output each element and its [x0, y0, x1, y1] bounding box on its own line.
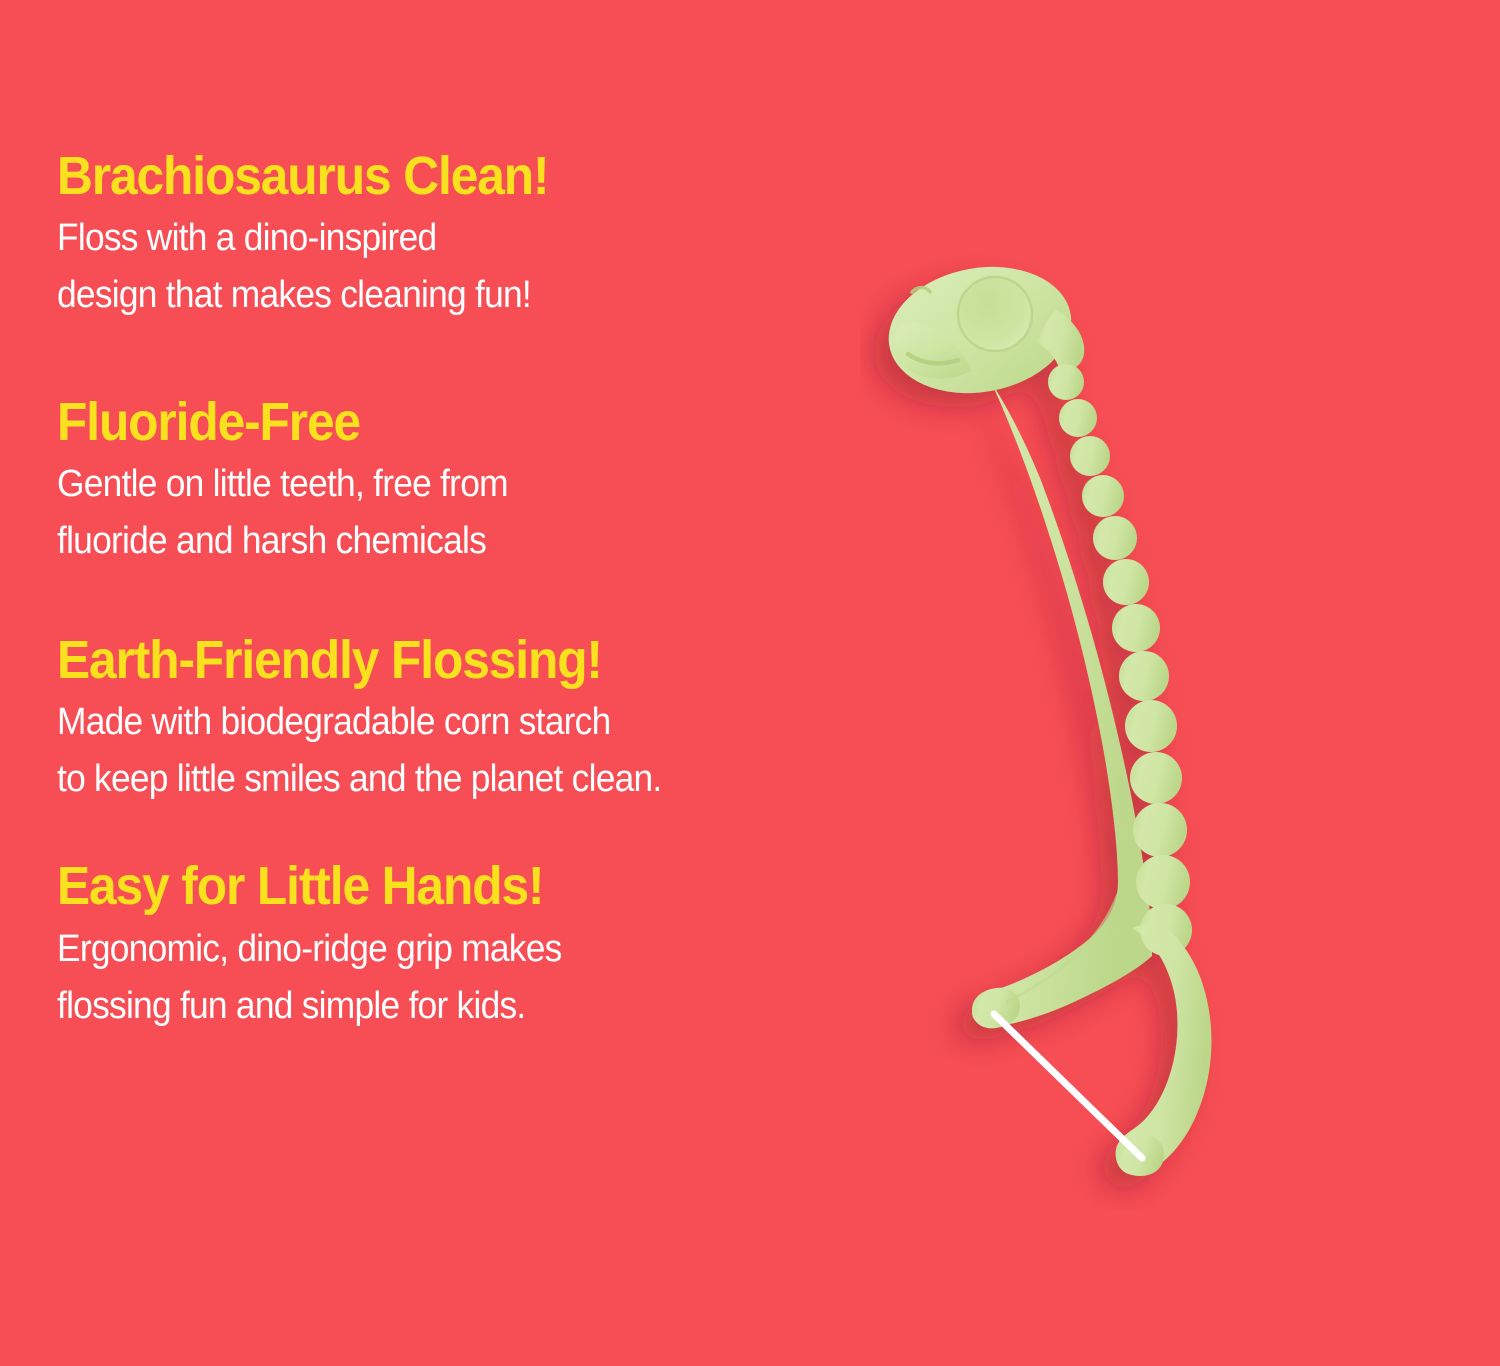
dinosaur-neck-handle: [916, 290, 1152, 1027]
feature-description-line: Gentle on little teeth, free from: [57, 456, 894, 513]
feature-description: Gentle on little teeth, free from fluori…: [57, 456, 894, 570]
feature-block-brachiosaurus-clean: Brachiosaurus Clean! Floss with a dino-i…: [57, 148, 957, 324]
feature-block-easy-for-little-hands: Easy for Little Hands! Ergonomic, dino-r…: [57, 858, 957, 1034]
feature-title: Easy for Little Hands!: [57, 858, 885, 914]
feature-block-fluoride-free: Fluoride-Free Gentle on little teeth, fr…: [57, 394, 957, 570]
product-image: [860, 230, 1420, 1210]
feature-description-line: to keep little smiles and the planet cle…: [57, 751, 894, 808]
feature-description-line: Made with biodegradable corn starch: [57, 694, 894, 751]
feature-block-earth-friendly-flossing: Earth-Friendly Flossing! Made with biode…: [57, 632, 957, 808]
feature-title: Fluoride-Free: [57, 394, 885, 450]
feature-description: Ergonomic, dino-ridge grip makes flossin…: [57, 921, 894, 1035]
feature-list: Brachiosaurus Clean! Floss with a dino-i…: [57, 148, 957, 1035]
feature-description-line: Ergonomic, dino-ridge grip makes: [57, 921, 894, 978]
feature-description: Floss with a dino-inspired design that m…: [57, 210, 894, 324]
feature-description-line: fluoride and harsh chemicals: [57, 513, 894, 570]
product-body-group: [879, 253, 1212, 1176]
feature-title: Earth-Friendly Flossing!: [57, 632, 885, 688]
feature-description-line: flossing fun and simple for kids.: [57, 978, 894, 1035]
feature-description: Made with biodegradable corn starch to k…: [57, 694, 894, 808]
product-feature-infographic: Brachiosaurus Clean! Floss with a dino-i…: [0, 0, 1500, 1366]
feature-title: Brachiosaurus Clean!: [57, 148, 885, 204]
floss-string-highlight: [994, 1014, 1142, 1158]
feature-description-line: design that makes cleaning fun!: [57, 267, 894, 324]
brachiosaurus-floss-pick-illustration: [860, 230, 1420, 1210]
feature-description-line: Floss with a dino-inspired: [57, 210, 894, 267]
